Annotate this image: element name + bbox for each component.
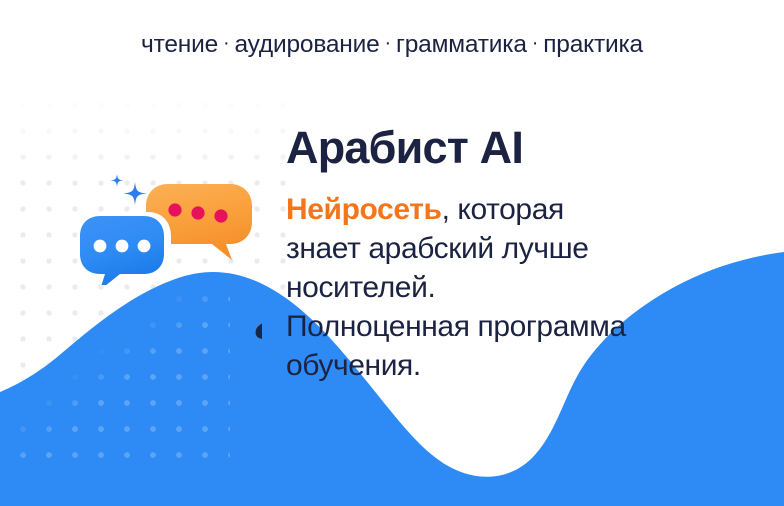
tagline-separator-2: · [380, 32, 396, 54]
arabic-word-svg: العربية [62, 286, 262, 358]
copy-block: Арабист AI Нейросеть, которая знает араб… [286, 122, 756, 385]
accent-word: Нейросеть [286, 193, 442, 226]
tagline-item-reading: чтение [141, 31, 218, 58]
tagline-item-practice: практика [543, 31, 643, 58]
arabic-word-graphic: العربية [62, 286, 262, 358]
copy-line-4: Полноценная программа [286, 307, 756, 346]
tagline: чтение·аудирование·грамматика·практика [0, 30, 784, 61]
sparkle-icon-large [124, 182, 147, 205]
sparkle-icon-small [111, 174, 124, 187]
blue-bubble-dot-2 [116, 240, 129, 253]
blue-bubble-dot-3 [138, 240, 151, 253]
copy-line-5: обучения. [286, 346, 756, 385]
orange-bubble-dot-2 [191, 206, 204, 219]
copy-line-3: носителей. [286, 268, 756, 307]
copy-line-1: Нейросеть, которая [286, 190, 756, 229]
tagline-item-listening: аудирование [235, 31, 380, 58]
blue-bubble-dot-1 [94, 240, 107, 253]
tagline-separator-3: · [527, 32, 543, 54]
promo-banner: чтение·аудирование·грамматика·практика [0, 0, 784, 506]
tagline-separator-1: · [218, 32, 234, 54]
page-title: Арабист AI [286, 122, 756, 174]
speech-bubbles-illustration [72, 160, 262, 285]
arabic-word-text: العربية [252, 290, 262, 353]
copy-line-1-rest: , которая [442, 193, 564, 226]
orange-bubble-dot-3 [214, 209, 227, 222]
copy-line-2: знает арабский лучше [286, 229, 756, 268]
tagline-item-grammar: грамматика [396, 31, 527, 58]
orange-bubble-dot-1 [168, 203, 181, 216]
